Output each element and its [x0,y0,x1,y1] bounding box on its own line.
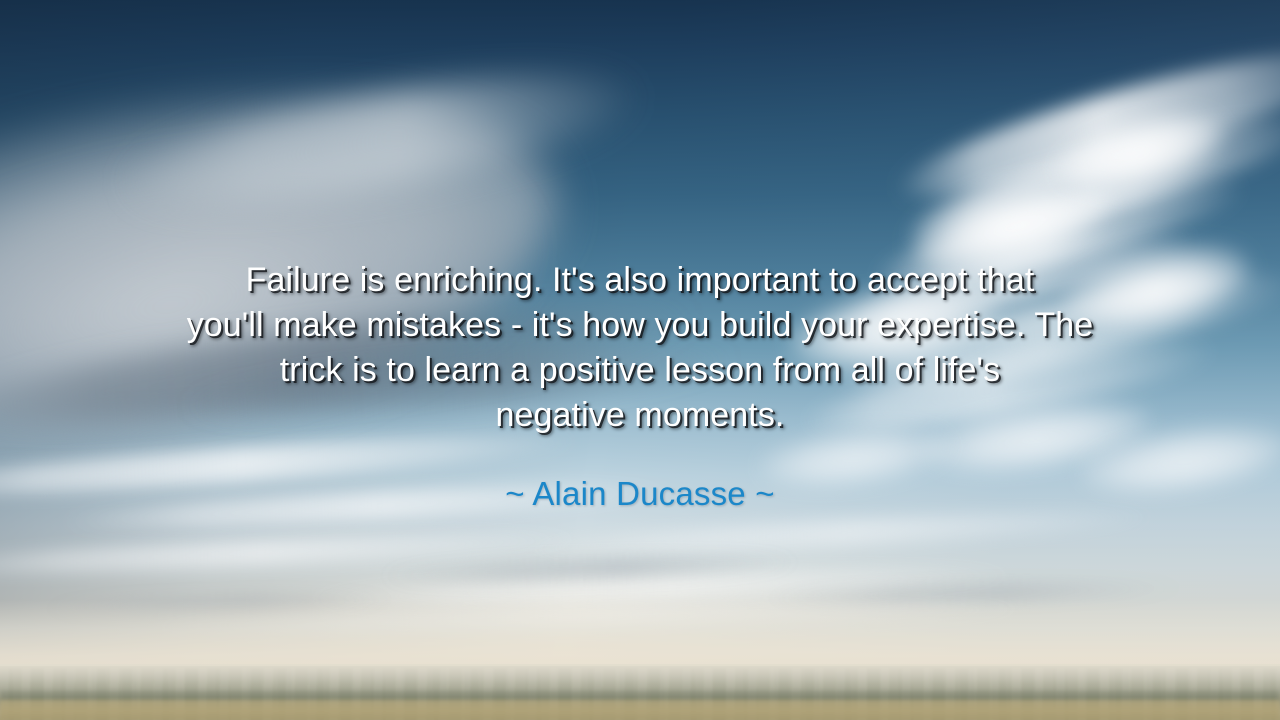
landscape-haze [0,664,1280,700]
landscape-tan-band [0,700,1280,720]
quote-card: Failure is enriching. It's also importan… [0,0,1280,720]
quote-block: Failure is enriching. It's also importan… [0,258,1280,514]
quote-author: ~ Alain Ducasse ~ [90,438,1190,514]
quote-text: Failure is enriching. It's also importan… [90,258,1190,438]
